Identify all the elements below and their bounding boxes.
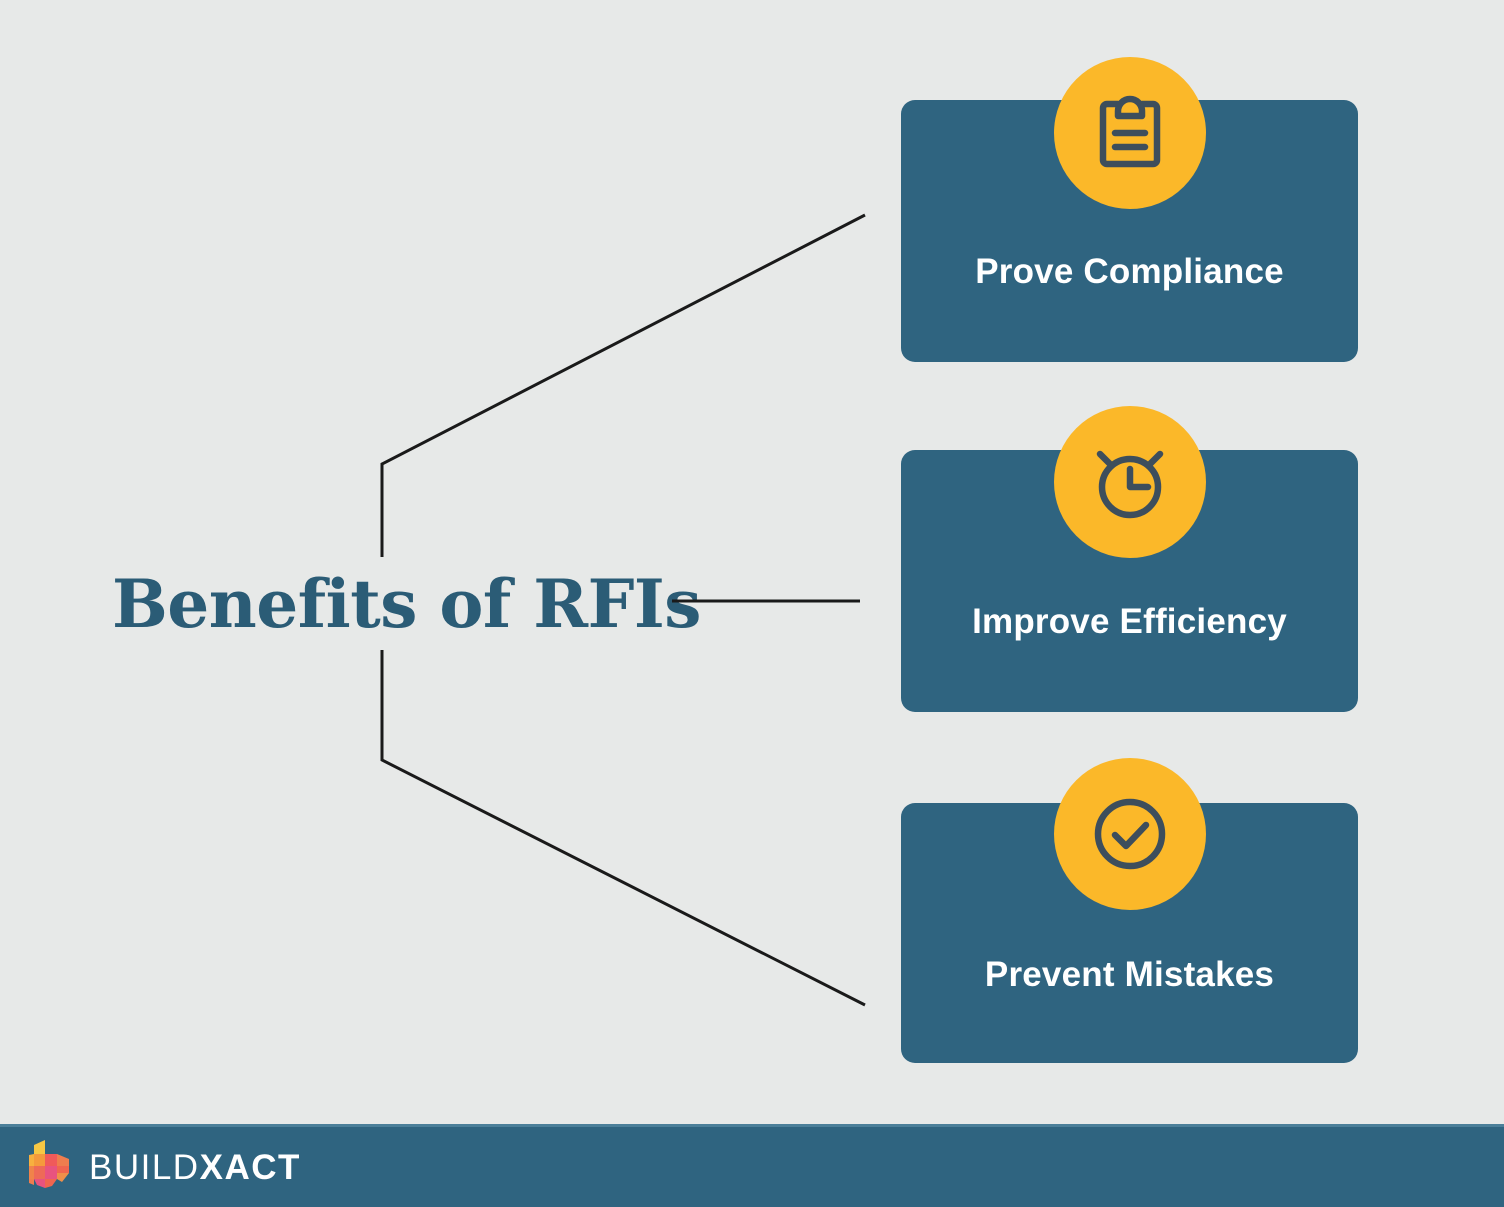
clipboard-icon: [1088, 91, 1172, 175]
buildxact-wordmark: BUILDXACT: [89, 1150, 301, 1185]
check-circle-icon-badge: [1054, 758, 1206, 910]
connector-bottom-branch: [382, 650, 865, 1005]
alarm-clock-icon-badge: [1054, 406, 1206, 558]
buildxact-b-mark-icon: [28, 1139, 76, 1196]
connector-top-branch: [382, 215, 865, 557]
wordmark-build: BUILD: [89, 1148, 200, 1187]
clipboard-icon-badge: [1054, 57, 1206, 209]
buildxact-logo[interactable]: BUILDXACT: [28, 1139, 301, 1196]
footer-bar: BUILDXACT: [0, 1124, 1504, 1207]
infographic-canvas: Benefits of RFIs Prove Compliance Improv…: [0, 0, 1504, 1207]
wordmark-xact: XACT: [200, 1148, 301, 1187]
benefit-card-label: Prove Compliance: [901, 252, 1358, 292]
benefit-card-label: Prevent Mistakes: [901, 955, 1358, 995]
check-circle-icon: [1088, 792, 1172, 876]
alarm-clock-icon: [1084, 436, 1176, 528]
page-title: Benefits of RFIs: [112, 565, 672, 643]
benefit-card-label: Improve Efficiency: [901, 602, 1358, 642]
